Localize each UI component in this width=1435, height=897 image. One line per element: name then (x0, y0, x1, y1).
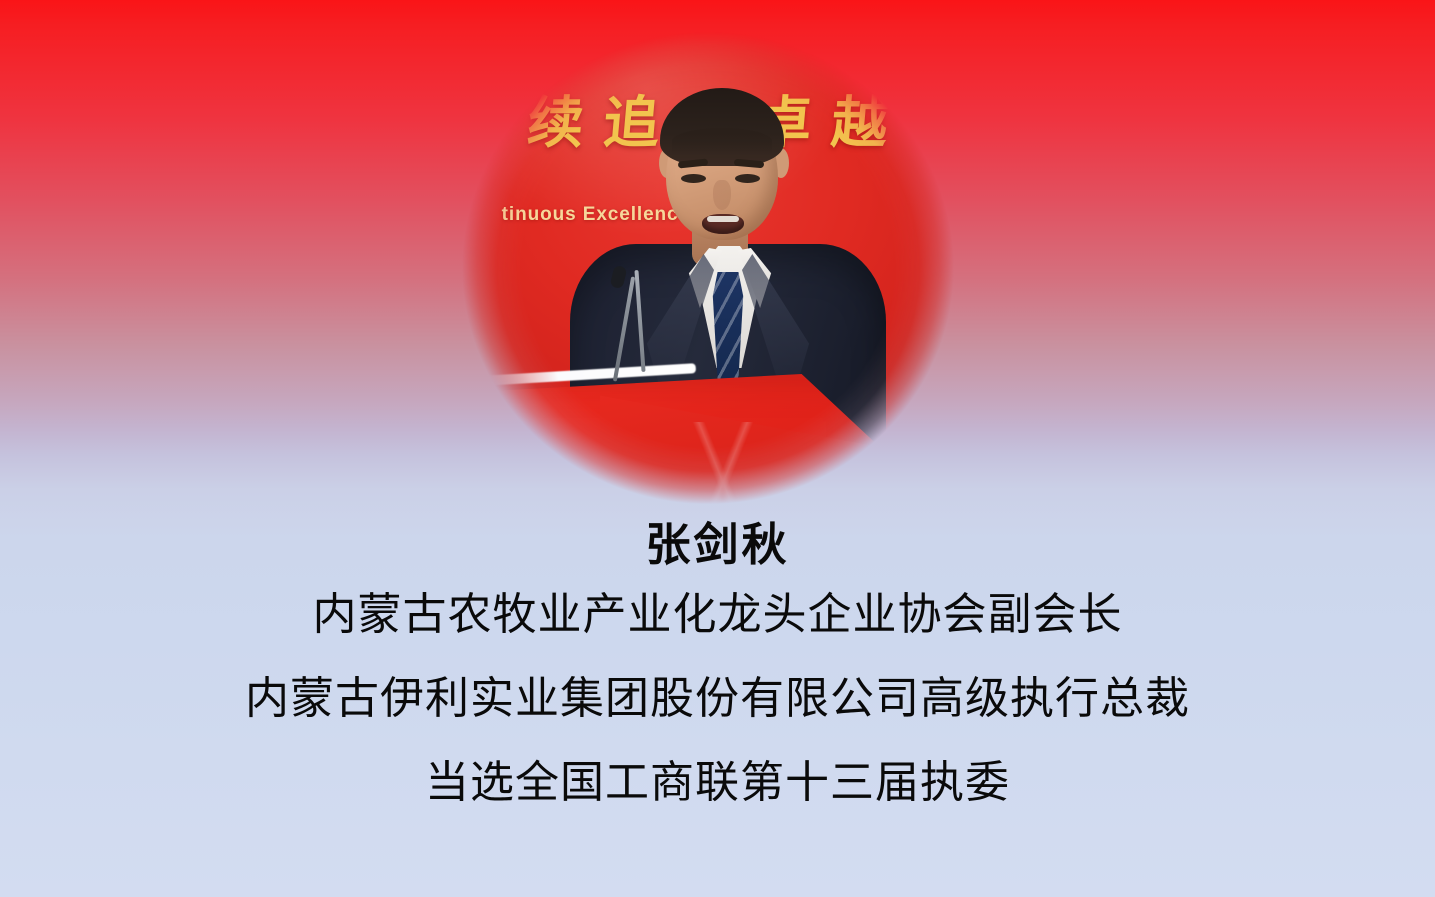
speaker-title-line-3: 当选全国工商联第十三届执委 (0, 761, 1435, 805)
speaker-photo: 续追求卓越 tinuous Excellence (452, 22, 964, 514)
photo-backdrop: 续追求卓越 tinuous Excellence (452, 22, 964, 514)
speaker-name: 张剑秋 (0, 522, 1435, 567)
hair (660, 88, 784, 166)
podium-emblem (638, 422, 808, 514)
eye-left (681, 174, 706, 183)
slide-canvas: 续追求卓越 tinuous Excellence (0, 0, 1435, 897)
mouth (702, 214, 744, 234)
speaker-title-line-2: 内蒙古伊利实业集团股份有限公司高级执行总裁 (0, 677, 1435, 721)
caption-block: 张剑秋 内蒙古农牧业产业化龙头企业协会副会长 内蒙古伊利实业集团股份有限公司高级… (0, 522, 1435, 805)
nose (713, 180, 731, 210)
eye-right (735, 174, 760, 183)
speaker-title-line-1: 内蒙古农牧业产业化龙头企业协会副会长 (0, 593, 1435, 637)
